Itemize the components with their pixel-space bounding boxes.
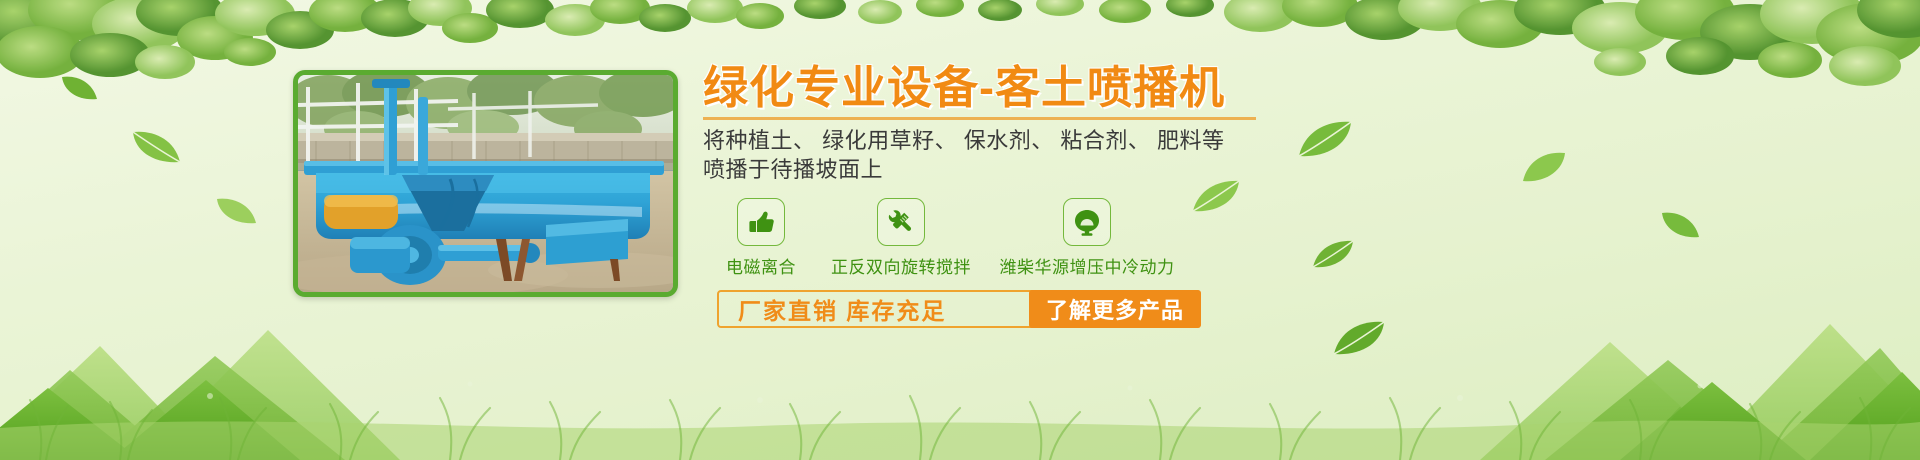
banner-subtitle-line-1: 将种植土、 绿化用草籽、 保水剂、 粘合剂、 肥料等 — [703, 126, 1303, 155]
cta-bar: 厂家直销 库存充足 了解更多产品 — [717, 290, 1201, 328]
floating-leaf-icon — [215, 196, 259, 226]
banner-subtitle-line-2: 喷播于待播坡面上 — [703, 155, 1303, 184]
floating-leaf-icon — [1660, 210, 1702, 240]
floating-leaf-icon — [60, 74, 100, 102]
floating-leaf-icon — [1330, 318, 1388, 358]
feature-item-weichai-engine: 潍柴华源增压中冷动力 — [987, 198, 1187, 278]
banner-title: 绿化专业设备-客土喷播机 — [703, 62, 1303, 114]
feature-list: 电磁离合 正反双向旋转搅拌 — [707, 198, 1303, 278]
floating-leaf-icon — [1295, 118, 1355, 160]
floating-leaf-icon — [1520, 150, 1568, 184]
feature-label: 电磁离合 — [707, 253, 815, 278]
feature-item-electromagnetic-clutch: 电磁离合 — [707, 198, 815, 278]
thumbs-up-icon — [737, 198, 785, 246]
floating-leaf-icon — [1310, 238, 1356, 270]
engine-gear-icon — [1063, 198, 1111, 246]
product-photo-frame — [293, 70, 678, 297]
cta-slogan: 厂家直销 库存充足 — [719, 292, 1029, 326]
floating-leaf-icon — [130, 128, 184, 166]
promo-banner: 绿化专业设备-客土喷播机 将种植土、 绿化用草籽、 保水剂、 粘合剂、 肥料等 … — [0, 0, 1920, 460]
feature-label: 正反双向旋转搅拌 — [815, 253, 987, 278]
grass-decoration — [0, 340, 1920, 460]
learn-more-button[interactable]: 了解更多产品 — [1029, 290, 1201, 328]
feature-label: 潍柴华源增压中冷动力 — [987, 253, 1187, 278]
wrench-screwdriver-icon — [877, 198, 925, 246]
title-divider — [703, 117, 1256, 120]
feature-item-bidirectional-mixing: 正反双向旋转搅拌 — [815, 198, 987, 278]
product-photo — [298, 75, 673, 292]
banner-content: 绿化专业设备-客土喷播机 将种植土、 绿化用草籽、 保水剂、 粘合剂、 肥料等 … — [703, 62, 1303, 328]
